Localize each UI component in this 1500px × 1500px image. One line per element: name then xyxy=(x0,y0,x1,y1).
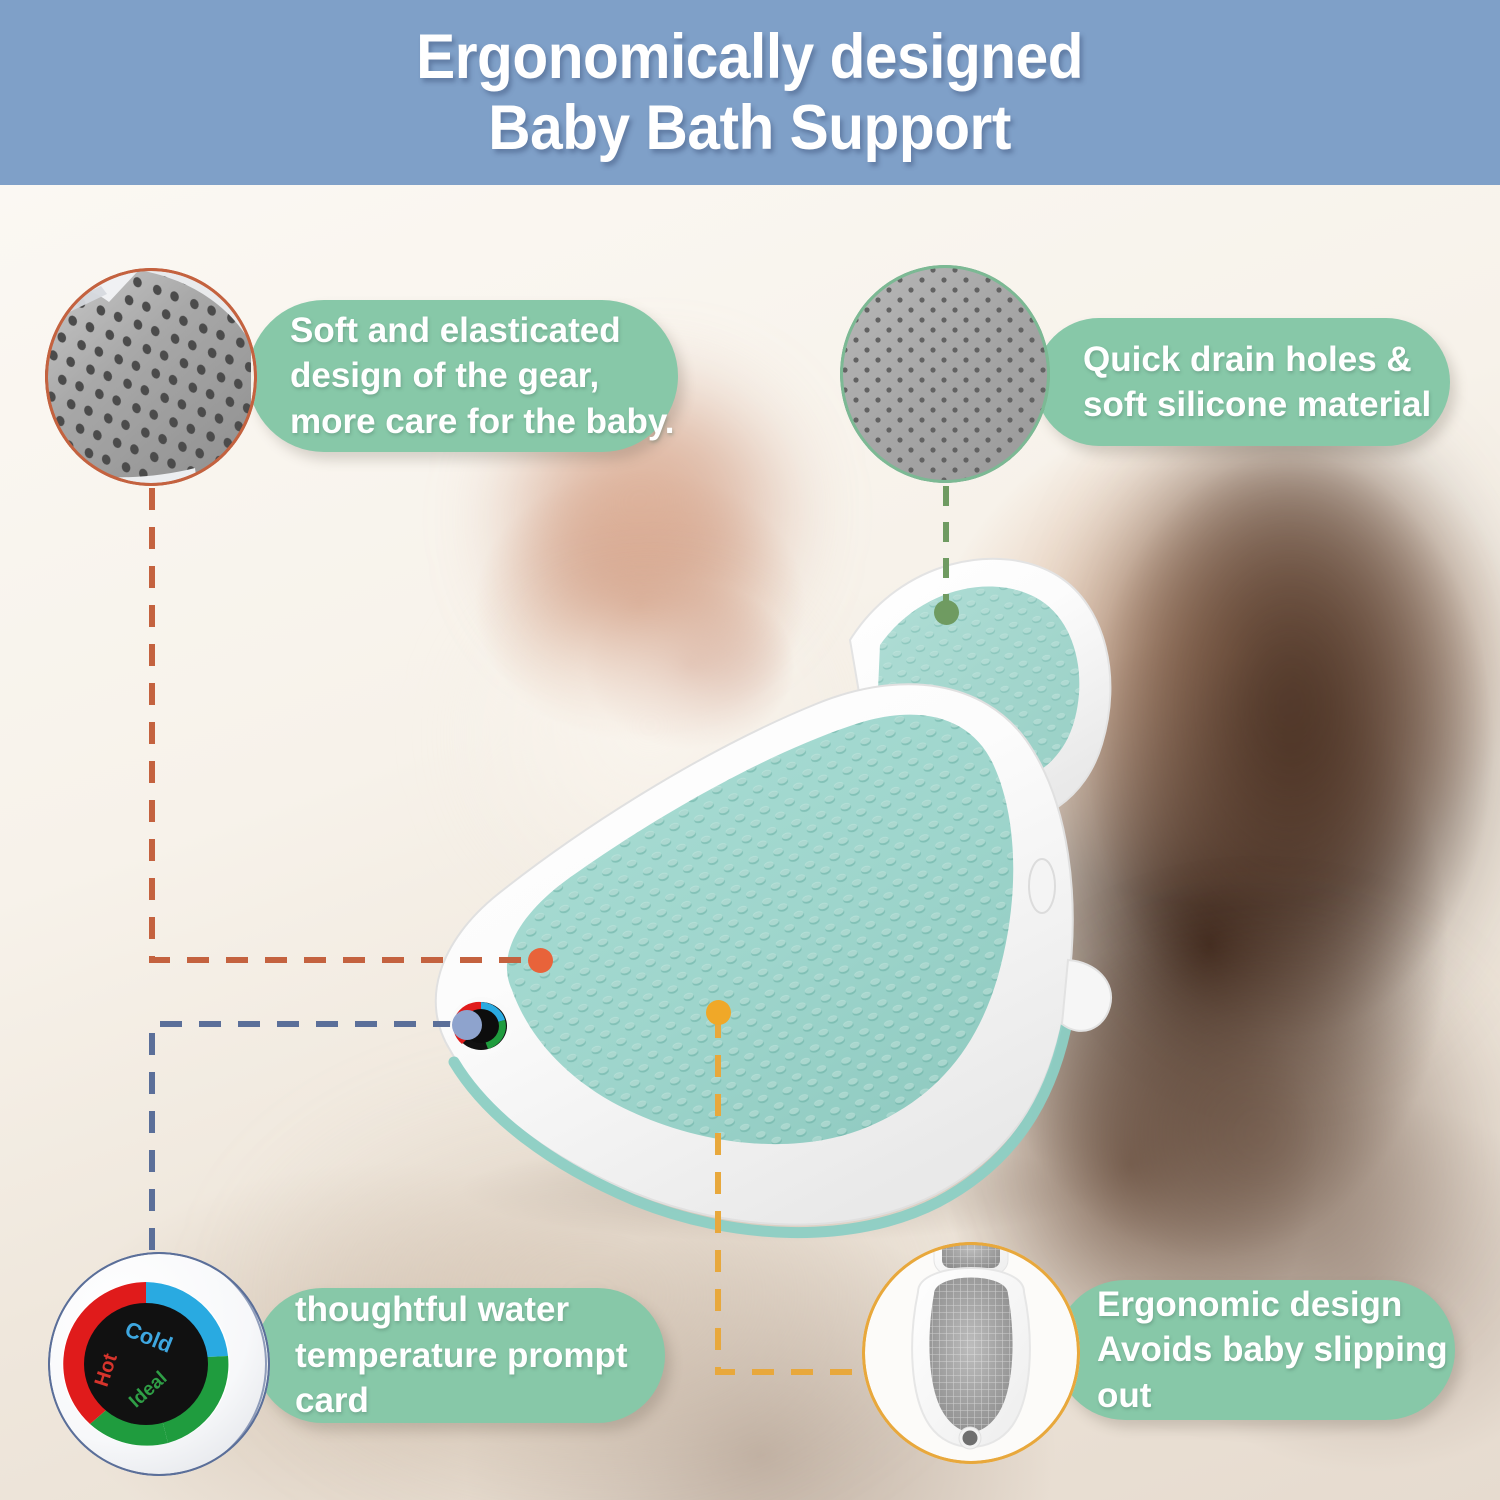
callout-label-soft-elasticated: Soft and elasticated design of the gear,… xyxy=(248,300,678,452)
connector-dot-temperature xyxy=(452,1010,482,1040)
product-mesh-seat xyxy=(507,715,1013,1145)
callout-label-quick-drain: Quick drain holes & soft silicone materi… xyxy=(1035,318,1450,446)
callout-bubble-soft-elasticated xyxy=(45,268,257,486)
product-side-button xyxy=(1029,859,1055,913)
temperature-dial-image: Cold Hot Ideal xyxy=(48,1252,270,1476)
callout-bubble-quick-drain xyxy=(840,265,1050,483)
product-image xyxy=(380,490,1160,1250)
callout-text-temperature: thoughtful water temperature prompt card xyxy=(295,1287,665,1424)
connector-dot-quick-drain xyxy=(934,600,959,625)
callout-text-soft-elasticated: Soft and elasticated design of the gear,… xyxy=(290,308,674,445)
callout-label-temperature: thoughtful water temperature prompt card xyxy=(255,1288,665,1423)
infographic-canvas: Ergonomically designed Baby Bath Support xyxy=(0,0,1500,1500)
title-line-1: Ergonomically designed xyxy=(417,22,1084,92)
callout-bubble-ergonomic xyxy=(862,1242,1080,1464)
top-down-seat-image xyxy=(862,1242,1080,1464)
product-illustration xyxy=(380,490,1160,1250)
connector-dot-ergonomic xyxy=(706,1000,731,1025)
perforated-gear-closeup-image xyxy=(45,268,257,486)
page-title: Ergonomically designed Baby Bath Support xyxy=(417,22,1084,163)
callout-text-quick-drain: Quick drain holes & soft silicone materi… xyxy=(1083,337,1431,428)
callout-bubble-temperature: Cold Hot Ideal xyxy=(48,1252,270,1476)
drain-holes-closeup-image xyxy=(840,265,1050,483)
title-line-2: Baby Bath Support xyxy=(417,93,1084,164)
dial-segments xyxy=(62,1282,230,1446)
header-banner: Ergonomically designed Baby Bath Support xyxy=(0,0,1500,185)
connector-dot-soft-elasticated xyxy=(528,948,553,973)
callout-text-ergonomic: Ergonomic design Avoids baby slipping ou… xyxy=(1097,1282,1455,1419)
callout-label-ergonomic: Ergonomic design Avoids baby slipping ou… xyxy=(1055,1280,1455,1420)
